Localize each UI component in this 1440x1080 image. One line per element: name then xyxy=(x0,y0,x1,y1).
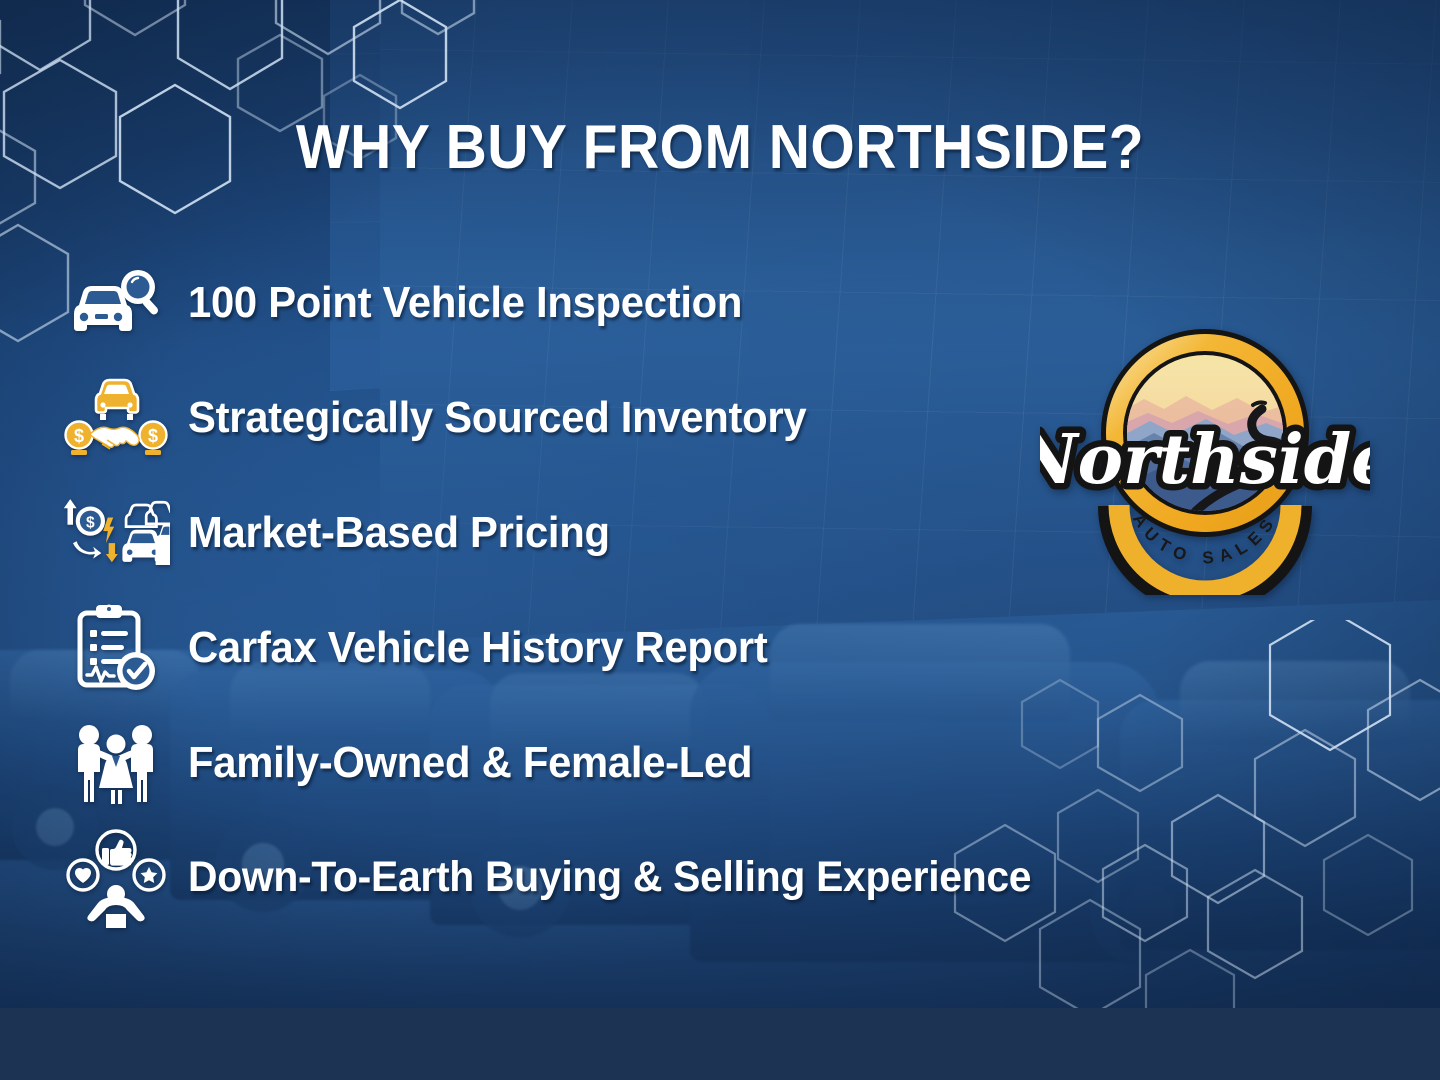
feature-label: Strategically Sourced Inventory xyxy=(188,393,806,443)
feature-label: Down-To-Earth Buying & Selling Experienc… xyxy=(188,853,1031,902)
page-title: WHY BUY FROM NORTHSIDE? xyxy=(58,112,1383,183)
svg-text:$: $ xyxy=(86,514,95,531)
slide-root: WHY BUY FROM NORTHSIDE? xyxy=(0,0,1440,1080)
list-item: Down-To-Earth Buying & Selling Experienc… xyxy=(62,820,1322,935)
feature-label: Carfax Vehicle History Report xyxy=(188,623,767,673)
svg-text:$: $ xyxy=(74,426,84,446)
handshake-money-car-icon: $ $ xyxy=(62,370,170,466)
family-group-icon xyxy=(62,715,170,811)
feature-label: Family-Owned & Female-Led xyxy=(188,738,752,788)
list-item: Carfax Vehicle History Report xyxy=(62,590,1322,705)
logo-wordmark: Northside xyxy=(1040,420,1370,500)
feature-label: Market-Based Pricing xyxy=(188,508,610,558)
thumbs-up-heart-star-person-icon xyxy=(62,830,170,926)
list-item: Family-Owned & Female-Led xyxy=(62,705,1322,820)
northside-auto-sales-logo[interactable]: AUTO SALES Northside Northside xyxy=(1040,305,1370,595)
feature-label: 100 Point Vehicle Inspection xyxy=(188,278,742,328)
svg-text:$: $ xyxy=(148,426,158,446)
dollar-cycle-cars-icon: $ xyxy=(62,485,170,581)
bottom-bar xyxy=(0,1008,1440,1080)
clipboard-check-icon xyxy=(62,600,170,696)
car-inspection-icon xyxy=(62,255,170,351)
